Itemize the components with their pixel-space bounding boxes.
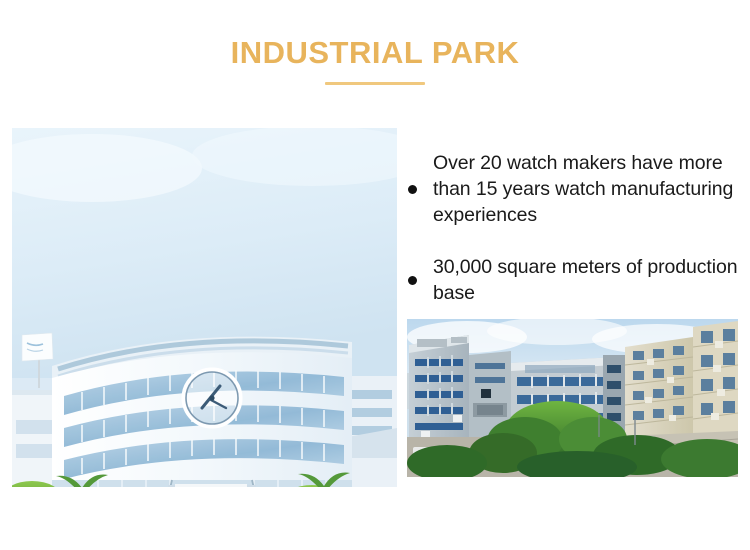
bullet-dot-icon (408, 276, 417, 285)
feature-bullet-list: Over 20 watch makers have more than 15 y… (408, 150, 738, 306)
page-title: INDUSTRIAL PARK (0, 34, 750, 72)
factory-campus-illustration (407, 319, 738, 477)
bullet-text: 30,000 square meters of production base (433, 254, 738, 306)
factory-campus-photo (407, 319, 738, 477)
building-clock-emblem (182, 368, 242, 428)
list-item: Over 20 watch makers have more than 15 y… (408, 150, 738, 228)
page-header: INDUSTRIAL PARK (0, 34, 750, 85)
office-building-photo (12, 128, 397, 487)
title-underline-divider (325, 82, 425, 85)
bullet-dot-icon (408, 185, 417, 194)
bullet-text: Over 20 watch makers have more than 15 y… (433, 150, 738, 228)
office-building-illustration (12, 128, 397, 487)
list-item: 30,000 square meters of production base (408, 254, 738, 306)
